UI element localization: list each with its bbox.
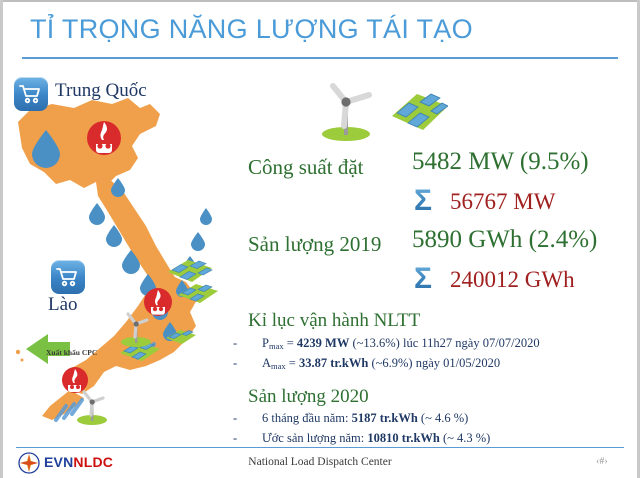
record-pmax-sub: max bbox=[269, 341, 284, 351]
output2020-heading: Sản lượng 2020 bbox=[248, 386, 369, 408]
bullet-marker: - bbox=[233, 431, 237, 446]
output2020-half-year-rest: (~ 4.6 %) bbox=[418, 411, 469, 425]
output-label: Sản lượng 2019 bbox=[248, 232, 381, 257]
sum-symbol-capacity: Σ bbox=[414, 186, 432, 216]
output-value: 5890 GWh (2.4%) bbox=[412, 226, 597, 254]
output2020-estimate-rest: (~ 4.3 %) bbox=[440, 431, 491, 445]
vietnam-map-graphic: Trung Quốc Lào Xuất khẩu CPC bbox=[0, 60, 240, 445]
neighbor-label-china: Trung Quốc bbox=[55, 80, 147, 102]
capacity-value: 5482 MW (9.5%) bbox=[412, 148, 589, 176]
record-pmax-bold: 4239 MW bbox=[297, 336, 349, 350]
output2020-estimate-bold: 10810 tr.kWh bbox=[367, 431, 439, 445]
record-pmax-rest: (~13.6%) lúc 11h27 ngày 07/07/2020 bbox=[349, 336, 539, 350]
map-svg bbox=[0, 60, 240, 445]
shopping-cart-icon-china bbox=[14, 77, 48, 111]
footer-divider bbox=[16, 447, 624, 448]
record-amax-sub: max bbox=[271, 361, 286, 371]
output2020-half-year-prefix: 6 tháng đầu năm: bbox=[262, 411, 352, 425]
bullet-marker: - bbox=[233, 336, 237, 351]
footer-page-number: ‹#› bbox=[596, 456, 608, 467]
coal-plant-icon bbox=[87, 121, 121, 155]
neighbor-label-laos: Lào bbox=[48, 294, 78, 316]
shopping-cart-icon-laos bbox=[51, 260, 85, 294]
output-total: 240012 GWh bbox=[450, 267, 575, 293]
output2020-half-year-bold: 5187 tr.kWh bbox=[352, 411, 418, 425]
output2020-half-year: 6 tháng đầu năm: 5187 tr.kWh (~ 4.6 %) bbox=[262, 411, 468, 426]
record-amax: Amax = 33.87 tr.kWh (~6.9%) ngày 01/05/2… bbox=[262, 356, 500, 371]
export-arrow-label: Xuất khẩu CPC bbox=[46, 348, 97, 357]
records-heading: Kỉ lục vận hành NLTT bbox=[248, 310, 420, 332]
wind-turbine-icon-header bbox=[318, 80, 376, 142]
page-title: TỈ TRỌNG NĂNG LƯỢNG TÁI TẠO bbox=[30, 14, 590, 45]
sum-symbol-output: Σ bbox=[414, 264, 432, 294]
capacity-label: Công suất đặt bbox=[248, 155, 364, 180]
record-pmax: Pmax = 4239 MW (~13.6%) lúc 11h27 ngày 0… bbox=[262, 336, 540, 351]
record-pmax-eq: = bbox=[284, 336, 297, 350]
solar-panel-icon-header bbox=[392, 90, 448, 134]
bullet-marker: - bbox=[233, 356, 237, 371]
record-amax-bold: 33.87 tr.kWh bbox=[299, 356, 368, 370]
record-amax-prefix: A bbox=[262, 356, 271, 370]
capacity-total: 56767 MW bbox=[450, 189, 555, 215]
title-divider bbox=[22, 57, 618, 59]
record-amax-rest: (~6.9%) ngày 01/05/2020 bbox=[368, 356, 500, 370]
output2020-estimate-prefix: Ước sản lượng năm: bbox=[262, 431, 367, 445]
footer-center-text: National Load Dispatch Center bbox=[0, 456, 640, 468]
slide-top-border bbox=[0, 0, 640, 2]
record-amax-eq: = bbox=[286, 356, 299, 370]
record-pmax-prefix: P bbox=[262, 336, 269, 350]
output2020-estimate: Ước sản lượng năm: 10810 tr.kWh (~ 4.3 %… bbox=[262, 431, 490, 446]
slide-root: TỈ TRỌNG NĂNG LƯỢNG TÁI TẠO bbox=[0, 0, 640, 478]
bullet-marker: - bbox=[233, 411, 237, 426]
